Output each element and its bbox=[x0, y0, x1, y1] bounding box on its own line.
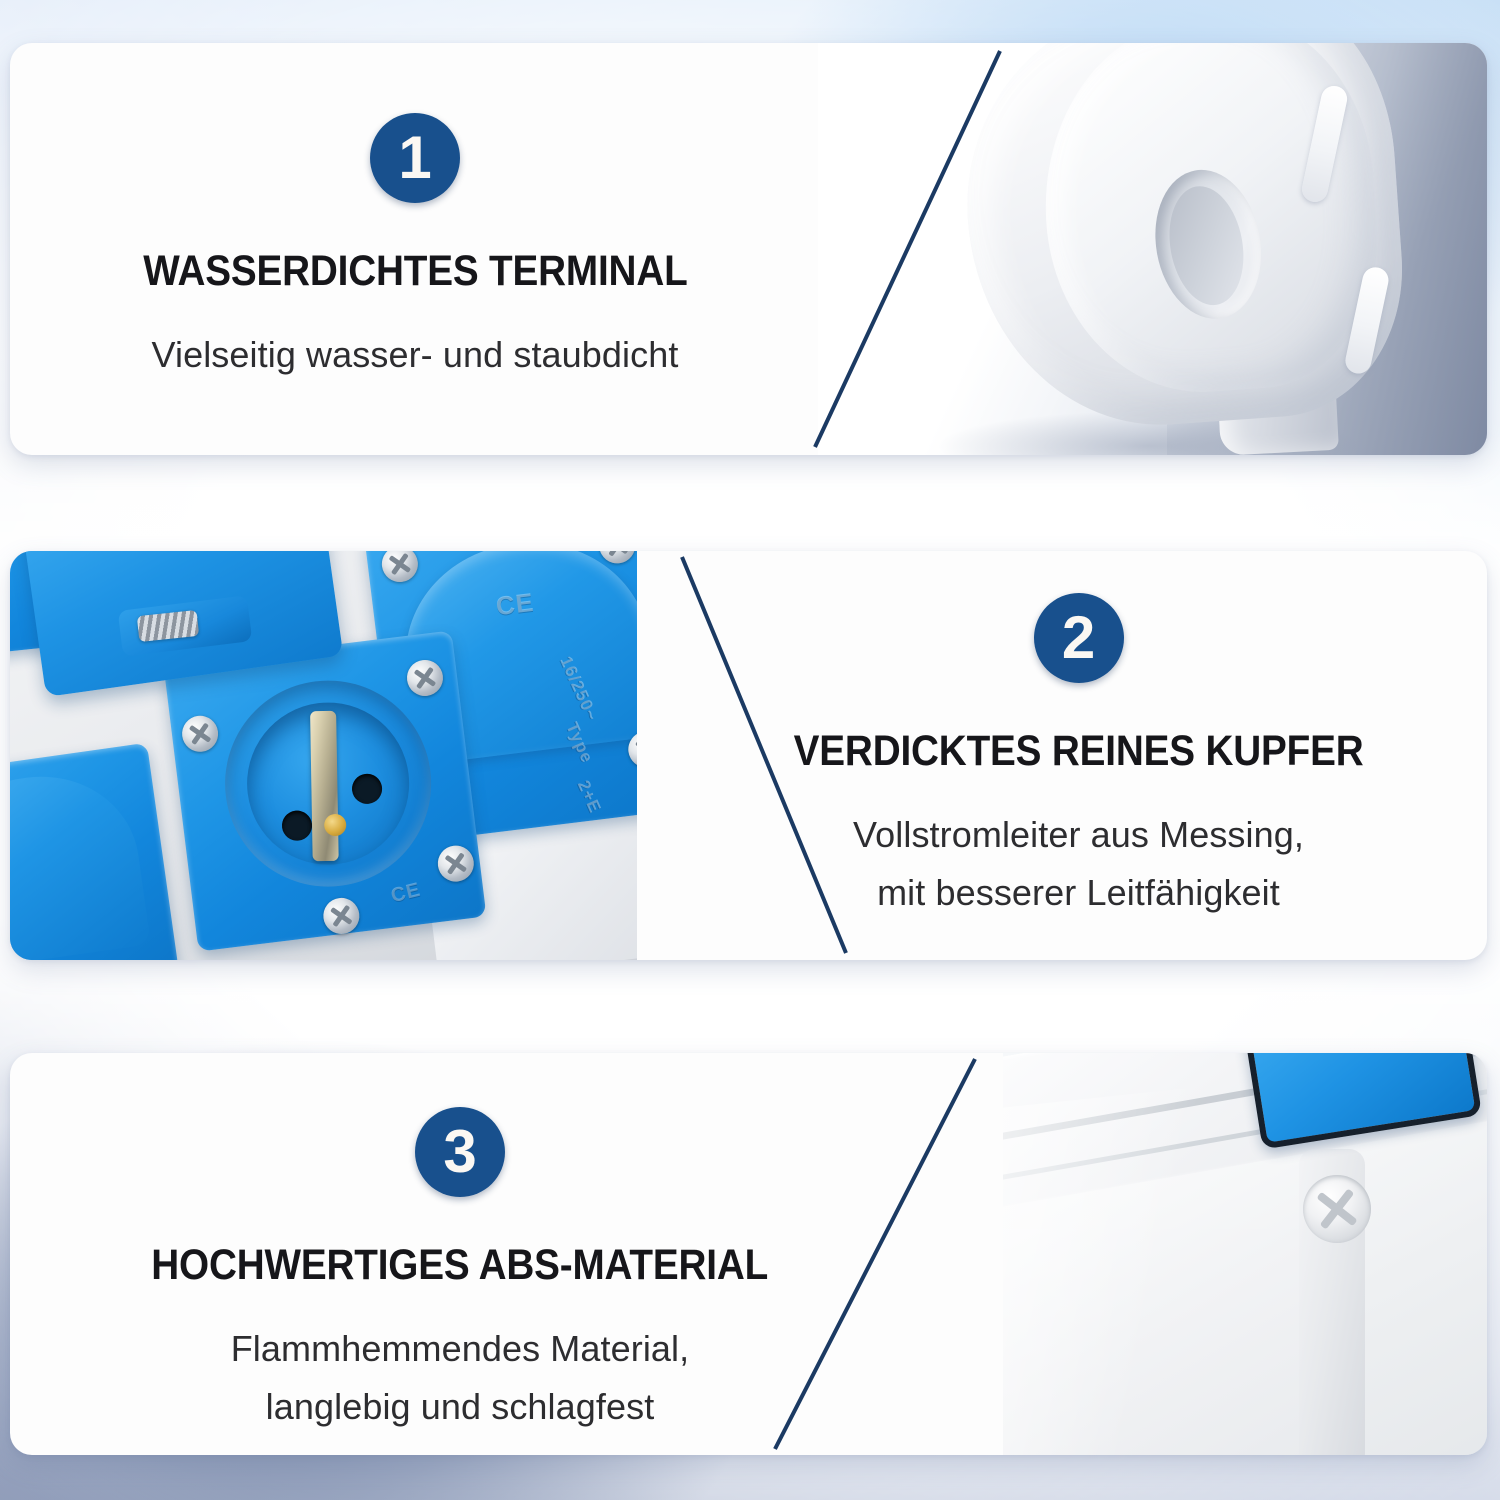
feature-3-subtitle-line-2: langlebig und schlagfest bbox=[231, 1378, 690, 1436]
cable-gland-aperture bbox=[1144, 161, 1272, 327]
feature-2-subtitle-line-1: Vollstromleiter aus Messing, bbox=[853, 806, 1304, 864]
feature-3-photo bbox=[1003, 1053, 1487, 1455]
feature-1-heading: WASSERDICHTES TERMINAL bbox=[143, 247, 687, 296]
socket-ring bbox=[213, 669, 443, 899]
socket-left-lid bbox=[10, 764, 151, 960]
cable-gland-aperture-inner bbox=[1161, 180, 1253, 311]
feature-1-number: 1 bbox=[398, 128, 431, 188]
feature-1-subtitle-line-1: Vielseitig wasser- und staubdicht bbox=[152, 326, 679, 384]
screw-icon bbox=[436, 844, 476, 884]
feature-2-number-badge: 2 bbox=[1034, 593, 1124, 683]
feature-3-text-block: 3 HOCHWERTIGES ABS-MATERIAL Flammhemmend… bbox=[10, 1107, 910, 1437]
screw-icon bbox=[597, 551, 637, 565]
infographic-canvas: 1 WASSERDICHTES TERMINAL Vielseitig wass… bbox=[0, 0, 1500, 1500]
feature-3-subtitle-line-1: Flammhemmendes Material, bbox=[231, 1320, 690, 1378]
socket-open-center: CE bbox=[164, 630, 487, 951]
feature-2-photo: /44 /42R CE 16/250~ Type 2+E bbox=[10, 551, 637, 960]
feature-card-1: 1 WASSERDICHTES TERMINAL Vielseitig wass… bbox=[10, 43, 1487, 455]
feature-2-subtitle-line-2: mit besserer Leitfähigkeit bbox=[853, 864, 1304, 922]
screw-icon bbox=[180, 714, 220, 754]
feature-2-text-block: 2 VERDICKTES REINES KUPFER Vollstromleit… bbox=[670, 593, 1487, 923]
feature-1-subtitle: Vielseitig wasser- und staubdicht bbox=[152, 326, 679, 384]
socket-pin-hole bbox=[350, 772, 383, 805]
feature-2-subtitle: Vollstromleiter aus Messing, mit bessere… bbox=[853, 806, 1304, 923]
ce-marking-center: CE bbox=[389, 879, 423, 909]
screw-icon bbox=[405, 658, 445, 698]
socket-pin-hole bbox=[280, 809, 313, 842]
feature-1-photo bbox=[818, 43, 1487, 455]
feature-2-heading: VERDICKTES REINES KUPFER bbox=[794, 727, 1364, 776]
feature-card-3: 3 HOCHWERTIGES ABS-MATERIAL Flammhemmend… bbox=[10, 1053, 1487, 1455]
screw-icon bbox=[380, 551, 420, 584]
photo-3-highlight bbox=[1003, 1082, 1281, 1455]
brass-earth-contact bbox=[310, 711, 339, 861]
feature-card-2: /44 /42R CE 16/250~ Type 2+E bbox=[10, 551, 1487, 960]
feature-3-number: 3 bbox=[443, 1122, 476, 1182]
feature-3-heading: HOCHWERTIGES ABS-MATERIAL bbox=[152, 1241, 769, 1290]
feature-2-number: 2 bbox=[1062, 608, 1095, 668]
feature-1-text-block: 1 WASSERDICHTES TERMINAL Vielseitig wass… bbox=[10, 113, 820, 384]
cable-gland-rib bbox=[1300, 84, 1350, 205]
feature-3-number-badge: 3 bbox=[415, 1107, 505, 1197]
socket-well bbox=[238, 693, 419, 874]
feature-1-number-badge: 1 bbox=[370, 113, 460, 203]
screw-icon bbox=[1303, 1175, 1371, 1243]
ce-marking-right: CE bbox=[494, 587, 536, 622]
screw-icon bbox=[321, 896, 361, 936]
feature-3-subtitle: Flammhemmendes Material, langlebig und s… bbox=[231, 1320, 690, 1437]
cable-gland-dome bbox=[1033, 43, 1388, 402]
